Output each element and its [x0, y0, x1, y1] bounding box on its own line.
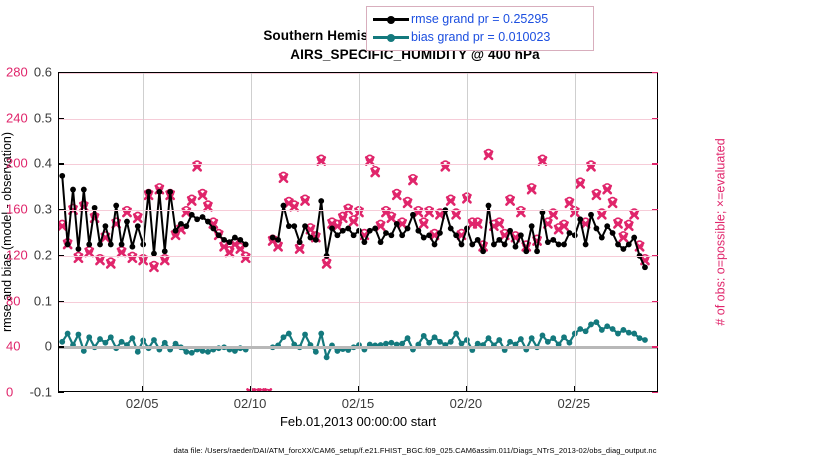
series-point: [76, 332, 82, 338]
series-point: [162, 248, 168, 254]
series-point: [620, 327, 626, 333]
y-axis-left-tick-label: 0.1: [34, 293, 52, 308]
series-point: [507, 228, 513, 234]
series-point: [448, 226, 454, 232]
series-point: [135, 349, 141, 355]
series-point: [162, 340, 168, 346]
series-point: [529, 335, 535, 341]
series-point: [588, 212, 594, 218]
series-point: [631, 331, 637, 337]
series-point: [216, 232, 222, 238]
series-point: [583, 242, 589, 248]
legend-marker-rmse-icon: [371, 12, 411, 26]
y-axis-right-tickmark: [652, 118, 658, 119]
series-point: [103, 340, 109, 346]
series-point: [194, 216, 200, 222]
legend-label-bias: bias grand pr = 0.010023: [411, 30, 550, 44]
series-point: [367, 228, 373, 234]
series-point: [81, 348, 87, 354]
series-point: [610, 326, 616, 332]
series-point: [146, 189, 152, 195]
y-axis-right-tick-label: 80: [6, 293, 20, 308]
y-axis-right-tickmark: [652, 392, 658, 393]
y-axis-right-tickmark: [652, 255, 658, 256]
series-point: [86, 242, 92, 248]
series-point: [405, 335, 411, 341]
series-point: [324, 354, 330, 360]
y-axis-left-tick-label: -0.1: [30, 385, 52, 400]
x-axis-tick-label: 02/25: [558, 396, 591, 411]
series-point: [642, 264, 648, 270]
series-point: [286, 331, 292, 337]
series-point: [200, 348, 206, 354]
series-point: [518, 336, 524, 342]
y-axis-left-tickmark: [58, 301, 64, 302]
y-axis-right-tick-label: 120: [6, 247, 28, 262]
series-point: [637, 335, 643, 341]
gridline-vertical: [143, 73, 144, 391]
series-point: [189, 350, 195, 356]
series-point: [119, 242, 125, 248]
data-file-note: data file: /Users/raeder/DAI/ATM_forcXX/…: [0, 446, 830, 455]
x-axis-tick-label: 02/10: [234, 396, 267, 411]
series-point: [507, 339, 513, 345]
series-point: [232, 235, 238, 241]
series-point: [599, 327, 605, 333]
series-point: [448, 339, 454, 345]
series-point: [232, 348, 238, 354]
series-bias: [59, 319, 648, 360]
series-point: [76, 246, 82, 252]
x-axis-tick-label: 02/15: [342, 396, 375, 411]
series-point: [108, 242, 114, 248]
series-point: [545, 239, 551, 245]
series-point: [486, 335, 492, 341]
series-point: [291, 223, 297, 229]
y-axis-right-tick-label: 200: [6, 156, 28, 171]
series-point: [486, 203, 492, 209]
series-point: [415, 228, 421, 234]
y-axis-left-tick-label: 0.3: [34, 202, 52, 217]
series-point: [426, 340, 432, 346]
series-point: [545, 339, 551, 345]
plot-area: [58, 72, 658, 392]
series-point: [237, 237, 243, 243]
series-point: [561, 242, 567, 248]
y-axis-left-tick-label: 0.2: [34, 247, 52, 262]
series-point: [210, 226, 216, 232]
series-point: [426, 232, 432, 238]
series-point: [156, 189, 162, 195]
gridline-horizontal: [59, 256, 657, 257]
series-point: [59, 173, 65, 179]
x-axis-tick-label: 02/05: [126, 396, 159, 411]
series-point: [65, 242, 71, 248]
y-axis-left-tick-label: 0.4: [34, 156, 52, 171]
series-point: [189, 212, 195, 218]
series-point: [437, 339, 443, 345]
data-series-layer: [59, 73, 657, 391]
series-point: [340, 228, 346, 234]
series-point: [480, 248, 486, 254]
y-axis-right-label: # of obs: o=possible; ×=evaluated: [712, 72, 730, 392]
series-point: [556, 242, 562, 248]
series-point: [178, 221, 184, 227]
y-axis-right-tickmark: [652, 209, 658, 210]
series-point: [183, 223, 189, 229]
series-point: [518, 232, 524, 238]
series-point: [383, 230, 389, 236]
series-point: [302, 223, 308, 229]
series-point: [513, 244, 519, 250]
series-point: [281, 334, 287, 340]
series-point: [302, 332, 308, 338]
series-point: [388, 232, 394, 238]
legend-marker-bias-icon: [371, 30, 411, 44]
series-point: [205, 219, 211, 225]
series-point: [394, 221, 400, 227]
y-axis-left-tick-label: 0.6: [34, 65, 52, 80]
x-axis-tickmark: [142, 386, 143, 392]
series-point: [626, 330, 632, 336]
series-point: [275, 237, 281, 243]
series-point: [318, 331, 324, 337]
series-point: [437, 230, 443, 236]
plot-canvas: [59, 73, 657, 391]
series-point: [475, 237, 481, 243]
y-axis-left-tickmark: [58, 392, 64, 393]
x-axis-tick-label: 02/20: [450, 396, 483, 411]
gridline-horizontal: [59, 302, 657, 303]
series-point: [345, 226, 351, 232]
series-point: [124, 219, 130, 225]
series-point: [119, 339, 125, 345]
gridline-horizontal: [59, 164, 657, 165]
y-axis-right-tickmark: [652, 346, 658, 347]
series-point: [313, 349, 319, 355]
series-point: [113, 203, 119, 209]
gridline-vertical: [251, 73, 252, 391]
series-point: [399, 232, 405, 238]
legend-item-rmse: rmse grand pr = 0.25295: [371, 10, 589, 28]
series-point: [615, 331, 621, 337]
series-point: [410, 212, 416, 218]
series-point: [103, 223, 109, 229]
chart-legend: rmse grand pr = 0.25295 bias grand pr = …: [366, 6, 594, 51]
series-point: [599, 235, 605, 241]
series-point: [378, 239, 384, 245]
series-point: [534, 248, 540, 254]
y-axis-right-label-text: # of obs: o=possible; ×=evaluated: [714, 138, 728, 325]
legend-label-rmse: rmse grand pr = 0.25295: [411, 12, 548, 26]
series-point: [388, 340, 394, 346]
series-point: [642, 337, 648, 343]
series-point: [329, 226, 335, 232]
x-axis-tickmark: [466, 386, 467, 392]
y-axis-left-tickmark: [58, 209, 64, 210]
series-point: [432, 334, 438, 340]
series-point: [615, 242, 621, 248]
y-axis-right-tick-label: 40: [6, 339, 20, 354]
x-axis-caption: Feb.01,2013 00:00:00 start: [58, 414, 658, 429]
series-point: [227, 239, 233, 245]
x-axis-tickmark: [358, 386, 359, 392]
y-axis-left-tickmark: [58, 72, 64, 73]
series-point: [97, 336, 103, 342]
series-point: [129, 335, 135, 341]
series-point: [620, 246, 626, 252]
series-point: [59, 339, 65, 345]
series-point: [97, 242, 103, 248]
series-point: [567, 340, 573, 346]
series-point: [453, 331, 459, 337]
series-point: [523, 248, 529, 254]
x-axis-tickmark: [574, 386, 575, 392]
series-point: [70, 187, 76, 193]
series-point: [86, 334, 92, 340]
series-point: [604, 223, 610, 229]
series-point: [594, 226, 600, 232]
series-point: [135, 223, 141, 229]
series-point: [594, 319, 600, 325]
series-point: [459, 242, 465, 248]
series-point: [421, 235, 427, 241]
y-axis-right-tick-label: 280: [6, 65, 28, 80]
series-point: [529, 223, 535, 229]
series-line: [273, 322, 645, 357]
series-point: [151, 337, 157, 343]
gridline-vertical: [359, 73, 360, 391]
y-axis-left-tickmark: [58, 163, 64, 164]
series-point: [550, 237, 556, 243]
series-point: [372, 226, 378, 232]
series-point: [577, 326, 583, 332]
series-point: [550, 335, 556, 341]
series-point: [496, 337, 502, 343]
series-point: [65, 331, 71, 337]
gridline-vertical: [467, 73, 468, 391]
series-point: [167, 189, 173, 195]
y-axis-left-tickmark: [58, 255, 64, 256]
series-point: [421, 333, 427, 339]
series-point: [567, 230, 573, 236]
y-axis-left-tick-label: 0: [45, 339, 52, 354]
series-point: [631, 235, 637, 241]
series-point: [286, 223, 292, 229]
series-point: [183, 349, 189, 355]
series-point: [297, 239, 303, 245]
series-point: [561, 334, 567, 340]
series-point: [270, 235, 276, 241]
series-point: [502, 242, 508, 248]
series-point: [588, 322, 594, 328]
series-point: [281, 203, 287, 209]
gridline-vertical: [575, 73, 576, 391]
series-point: [583, 328, 589, 334]
series-point: [205, 349, 211, 355]
series-point: [335, 232, 341, 238]
series-point: [405, 226, 411, 232]
series-point: [496, 237, 502, 243]
obs-markers-group: [59, 150, 649, 391]
zero-reference-line: [59, 346, 657, 349]
series-point: [469, 242, 475, 248]
series-point: [626, 242, 632, 248]
y-axis-left-tick-label: 0.5: [34, 110, 52, 125]
series-point: [173, 228, 179, 234]
x-axis-tickmark: [250, 386, 251, 392]
y-axis-right-tickmark: [652, 163, 658, 164]
series-point: [221, 237, 227, 243]
series-point: [491, 242, 497, 248]
series-point: [351, 232, 357, 238]
series-point: [108, 334, 114, 340]
series-point: [577, 216, 583, 222]
y-axis-right-tickmark: [652, 301, 658, 302]
series-point: [129, 244, 135, 250]
series-point: [200, 214, 206, 220]
y-axis-left-tickmark: [58, 346, 64, 347]
series-point: [610, 230, 616, 236]
gridline-horizontal: [59, 73, 657, 74]
series-point: [361, 239, 367, 245]
series-point: [335, 348, 341, 354]
y-axis-left-tickmark: [58, 118, 64, 119]
legend-item-bias: bias grand pr = 0.010023: [371, 28, 589, 46]
series-point: [453, 232, 459, 238]
gridline-horizontal: [59, 119, 657, 120]
series-point: [81, 187, 87, 193]
y-axis-right-tick-label: 160: [6, 202, 28, 217]
series-point: [604, 323, 610, 329]
series-point: [318, 198, 324, 204]
series-point: [308, 235, 314, 241]
series-point: [432, 242, 438, 248]
y-axis-right-tick-label: 0: [6, 385, 13, 400]
series-point: [313, 237, 319, 243]
y-axis-right-tick-label: 240: [6, 110, 28, 125]
series-point: [540, 333, 546, 339]
y-axis-right-tickmark: [652, 72, 658, 73]
series-point: [243, 242, 249, 248]
gridline-horizontal: [59, 210, 657, 211]
